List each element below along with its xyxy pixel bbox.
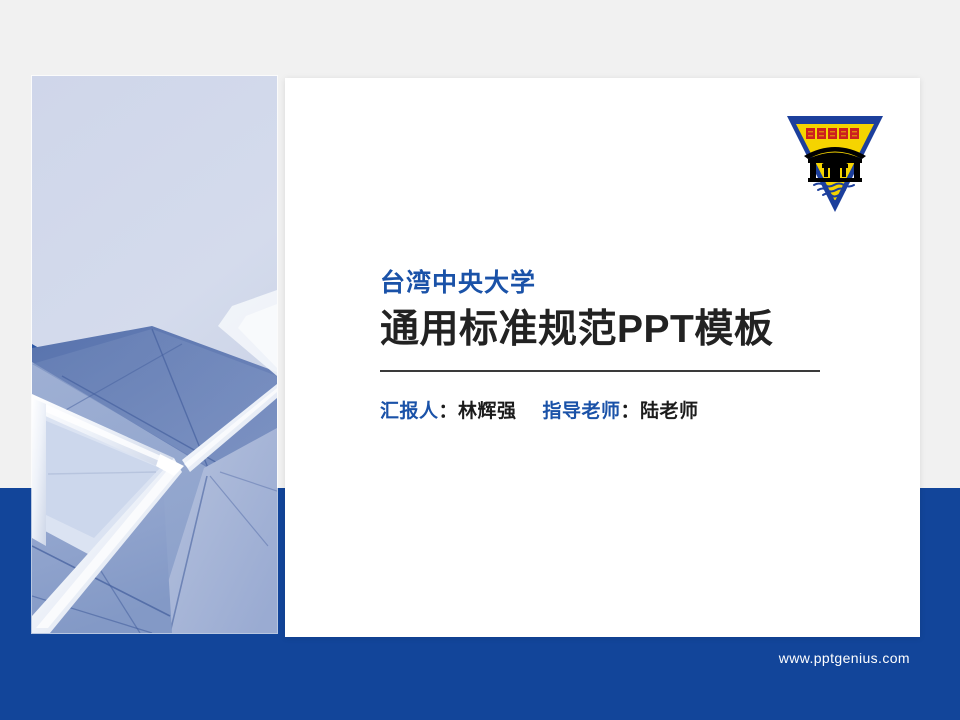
advisor-label: 指导老师 — [543, 401, 621, 422]
crest-characters — [806, 128, 859, 139]
footer-url[interactable]: www.pptgenius.com — [779, 650, 910, 666]
presentation-slide: 台湾中央大学 通用标准规范PPT模板 汇报人：林辉强指导老师：陆老师 www.p… — [0, 0, 960, 720]
crest-icon — [784, 112, 886, 216]
advisor-value: ：陆老师 — [621, 401, 699, 422]
university-name: 台湾中央大学 — [380, 268, 825, 299]
crest-dot-icon — [833, 200, 837, 204]
page-title: 通用标准规范PPT模板 — [380, 306, 825, 354]
presenter-value: ：林辉强 — [439, 401, 517, 422]
university-crest — [784, 112, 886, 216]
title-block: 台湾中央大学 通用标准规范PPT模板 汇报人：林辉强指导老师：陆老师 — [380, 268, 825, 423]
content-card: 台湾中央大学 通用标准规范PPT模板 汇报人：林辉强指导老师：陆老师 — [285, 78, 920, 637]
byline: 汇报人：林辉强指导老师：陆老师 — [380, 396, 825, 423]
cover-photo — [32, 76, 277, 633]
presenter-label: 汇报人 — [380, 401, 439, 422]
title-divider — [380, 370, 820, 372]
cover-photo-artwork — [32, 76, 277, 633]
